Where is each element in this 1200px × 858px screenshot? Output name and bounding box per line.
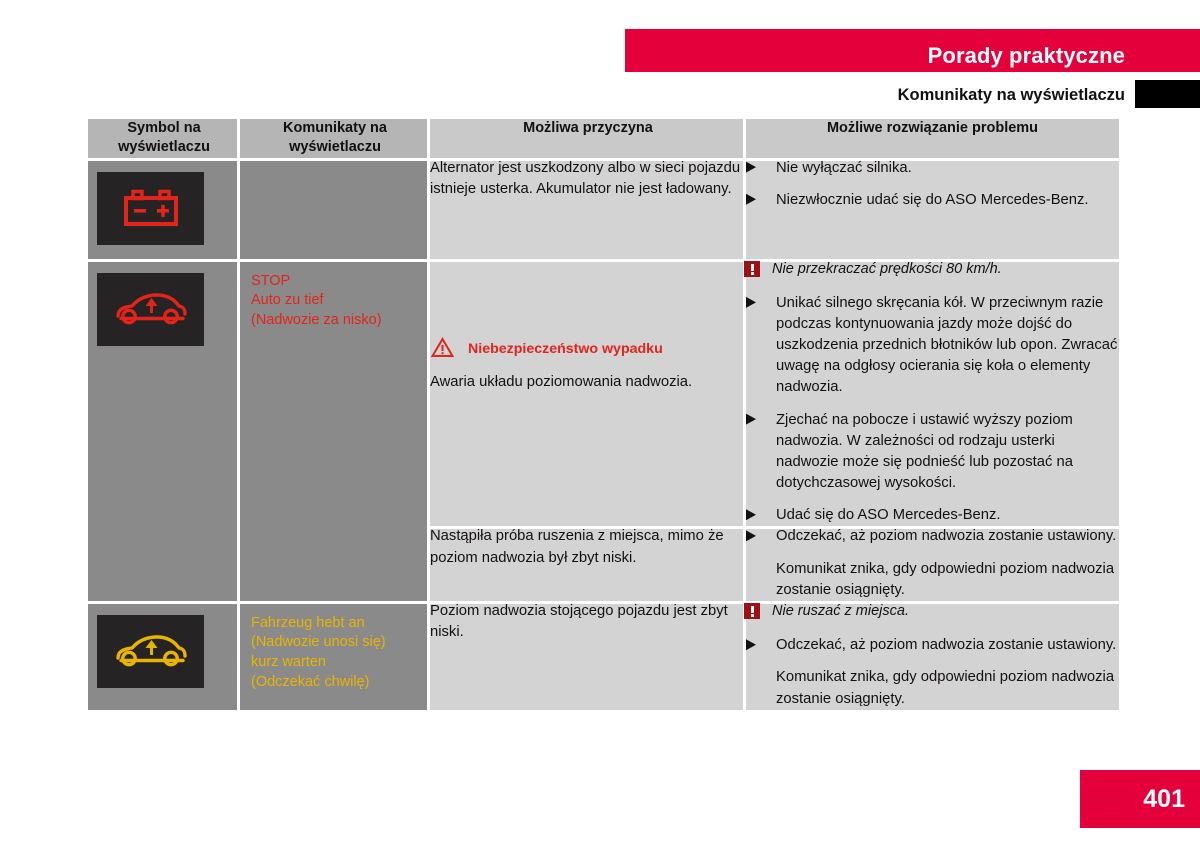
exclamation-box-icon: [744, 261, 760, 277]
column-header-solution: Możliwe rozwiązanie problemu: [746, 119, 1119, 158]
triangle-bullet-icon: [746, 162, 756, 173]
table-header-row: Symbol na wyświetlaczu Komunikaty na wyś…: [88, 119, 1119, 158]
warning-note: Nie przekraczać prędkości 80 km/h.: [746, 259, 1119, 279]
triangle-bullet-icon: [746, 509, 756, 520]
solution-cell: Odczekać, aż poziom nadwozia zostanie us…: [746, 526, 1119, 600]
triangle-bullet-icon: [746, 530, 756, 541]
solution-bullet-text: Odczekać, aż poziom nadwozia zostanie us…: [776, 526, 1119, 547]
column-header-symbol: Symbol na wyświetlaczu: [88, 119, 240, 158]
car-raise-outline-icon: [97, 273, 204, 346]
cause-text: Poziom nadwozia stojącego pojazdu jest z…: [430, 601, 746, 643]
cause-cell: Alternator jest uszkodzony albo w sieci …: [430, 158, 746, 259]
solution-bullet-text: Nie wyłączać silnika.: [776, 158, 1119, 179]
triangle-bullet-icon: [746, 297, 756, 308]
symbol-cell: [88, 601, 240, 710]
cause-text: Alternator jest uszkodzony albo w sieci …: [430, 158, 746, 200]
cause-text: Nastąpiła próba ruszenia z miejsca, mimo…: [430, 526, 746, 568]
message-cell: STOP Auto zu tief (Nadwozie za nisko): [240, 259, 430, 601]
solution-bullet-text: Udać się do ASO Mercedes-Benz.: [776, 505, 1119, 526]
warning-triangle-icon: [431, 337, 454, 363]
solution-cell: Nie ruszać z miejsca. Odczekać, aż pozio…: [746, 601, 1119, 710]
display-message-text: [240, 158, 430, 185]
solution-bullet: Udać się do ASO Mercedes-Benz.: [746, 505, 1119, 526]
warning-note: Nie ruszać z miejsca.: [746, 601, 1119, 621]
solution-cell: Nie przekraczać prędkości 80 km/h. Unika…: [746, 259, 1119, 527]
warning-note-text: Nie przekraczać prędkości 80 km/h.: [772, 259, 1119, 279]
solution-bullet-text: Zjechać na pobocze i ustawić wyższy pozi…: [776, 410, 1119, 495]
battery-warning-icon: [97, 172, 204, 245]
solution-note-text: Komunikat znika, gdy odpowiedni poziom n…: [776, 559, 1119, 601]
column-header-cause: Możliwa przyczyna: [430, 119, 746, 158]
warning-note-text: Nie ruszać z miejsca.: [772, 601, 1119, 621]
solution-note: Komunikat znika, gdy odpowiedni poziom n…: [746, 559, 1119, 601]
triangle-bullet-icon: [746, 639, 756, 650]
section-subtitle: Komunikaty na wyświetlaczu: [898, 86, 1125, 105]
page-title: Porady praktyczne: [928, 43, 1125, 69]
solution-bullet: Unikać silnego skręcania kół. W przeciwn…: [746, 293, 1119, 399]
cause-cell: Nastąpiła próba ruszenia z miejsca, mimo…: [430, 526, 746, 600]
display-messages-table: Symbol na wyświetlaczu Komunikaty na wyś…: [88, 119, 1119, 710]
message-cell: Fahrzeug hebt an (Nadwozie unosi się) ku…: [240, 601, 430, 710]
car-raise-filled-icon: [97, 615, 204, 688]
message-cell: [240, 158, 430, 259]
header-black-marker: [1135, 80, 1200, 108]
cause-cell: Poziom nadwozia stojącego pojazdu jest z…: [430, 601, 746, 710]
page-number: 401: [1143, 785, 1185, 814]
solution-bullet-text: Odczekać, aż poziom nadwozia zostanie us…: [776, 635, 1119, 656]
table-row: STOP Auto zu tief (Nadwozie za nisko) Ni…: [88, 259, 1119, 527]
solution-note: Komunikat znika, gdy odpowiedni poziom n…: [746, 667, 1119, 709]
solution-bullet-text: Unikać silnego skręcania kół. W przeciwn…: [776, 293, 1119, 399]
solution-bullet: Zjechać na pobocze i ustawić wyższy pozi…: [746, 410, 1119, 495]
danger-heading-text: Niebezpieczeństwo wypadku: [468, 337, 663, 358]
symbol-cell: [88, 158, 240, 259]
display-message-text: STOP Auto zu tief (Nadwozie za nisko): [240, 259, 430, 345]
symbol-cell: [88, 259, 240, 601]
solution-cell: Nie wyłączać silnika. Niezwłocznie udać …: [746, 158, 1119, 259]
solution-bullet: Niezwłocznie udać się do ASO Mercedes-Be…: [746, 190, 1119, 211]
solution-bullet-text: Niezwłocznie udać się do ASO Mercedes-Be…: [776, 190, 1119, 211]
cause-cell: Niebezpieczeństwo wypadku Awaria układu …: [430, 259, 746, 527]
solution-note-text: Komunikat znika, gdy odpowiedni poziom n…: [776, 667, 1119, 709]
table-row: Fahrzeug hebt an (Nadwozie unosi się) ku…: [88, 601, 1119, 710]
danger-heading: Niebezpieczeństwo wypadku: [430, 337, 746, 363]
solution-bullet: Nie wyłączać silnika.: [746, 158, 1119, 179]
exclamation-box-icon: [744, 603, 760, 619]
cause-text: Awaria układu poziomowania nadwozia.: [430, 372, 746, 393]
solution-bullet: Odczekać, aż poziom nadwozia zostanie us…: [746, 635, 1119, 656]
table-row: Alternator jest uszkodzony albo w sieci …: [88, 158, 1119, 259]
triangle-bullet-icon: [746, 414, 756, 425]
triangle-bullet-icon: [746, 194, 756, 205]
display-message-text: Fahrzeug hebt an (Nadwozie unosi się) ku…: [240, 601, 430, 706]
solution-bullet: Odczekać, aż poziom nadwozia zostanie us…: [746, 526, 1119, 547]
column-header-message: Komunikaty na wyświetlaczu: [240, 119, 430, 158]
